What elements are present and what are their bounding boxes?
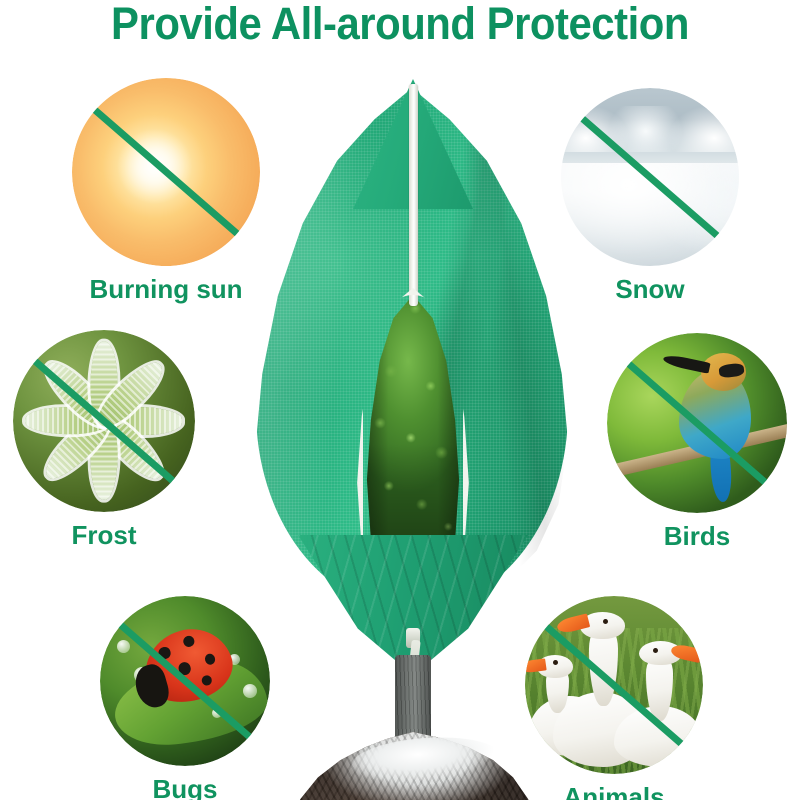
feature-bugs: Bugs <box>100 596 270 766</box>
bird-icon <box>607 333 787 513</box>
goose-icon <box>525 596 703 774</box>
zipper-closed-section <box>409 84 418 306</box>
feature-label-frost: Frost <box>13 520 195 551</box>
sun-icon <box>72 78 260 266</box>
feature-snow: Snow <box>561 88 739 266</box>
feature-label-birds: Birds <box>607 521 787 552</box>
snow-icon <box>561 88 739 266</box>
infographic-page: Provide All-around Protection <box>0 0 800 800</box>
feature-animals: Animals <box>525 596 703 774</box>
ladybug-icon <box>100 596 270 766</box>
feature-frost: Frost <box>13 330 195 512</box>
page-title: Provide All-around Protection <box>28 0 772 50</box>
feature-label-snow: Snow <box>561 274 739 305</box>
feature-label-bugs: Bugs <box>100 774 270 800</box>
feature-label-animals: Animals <box>525 782 703 800</box>
frost-icon <box>13 330 195 512</box>
feature-label-burning-sun: Burning sun <box>72 274 260 305</box>
feature-burning-sun: Burning sun <box>72 78 260 266</box>
feature-birds: Birds <box>607 333 787 513</box>
